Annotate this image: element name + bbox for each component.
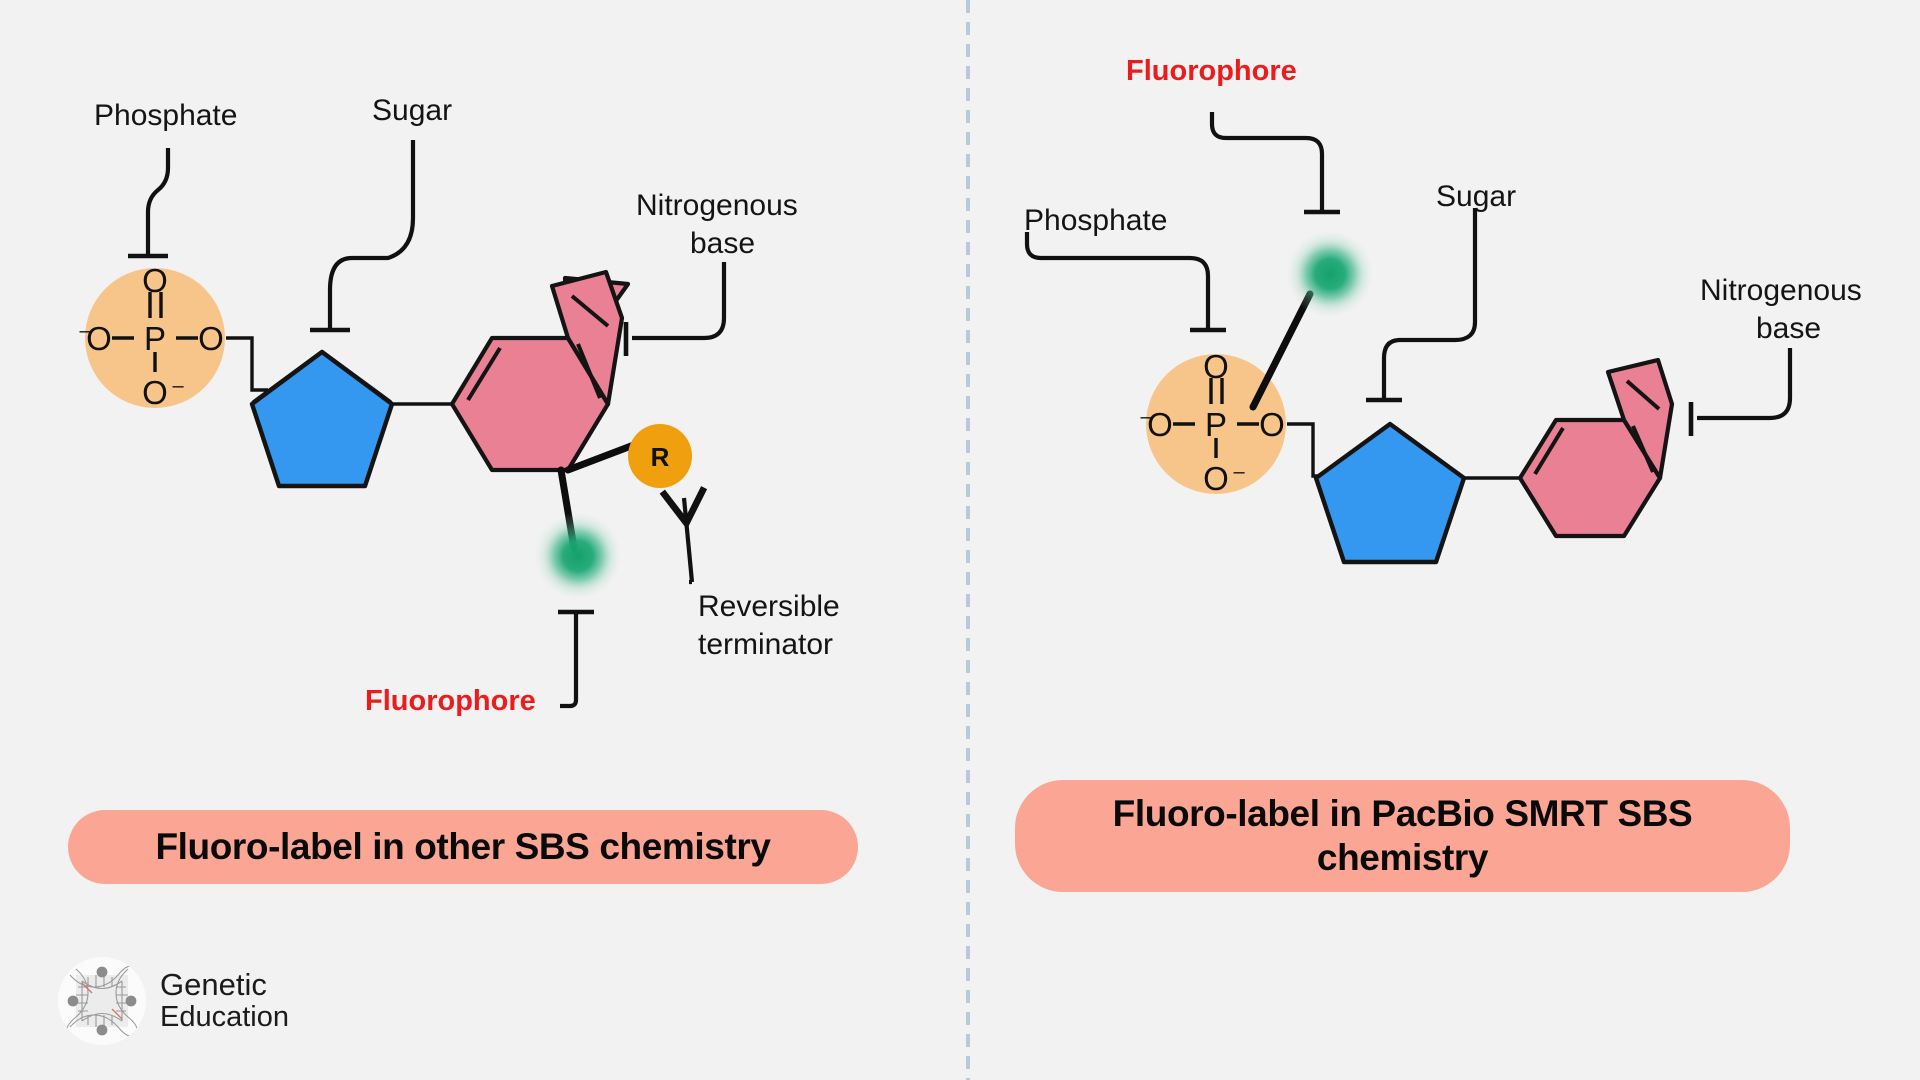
right-phosphate-leader	[1027, 232, 1226, 330]
left-banner-text: Fluoro-label in other SBS chemistry	[137, 825, 788, 869]
right-phosphate-left-oxygen: O	[1147, 406, 1173, 443]
logo-wordmark: Genetic Education	[160, 968, 289, 1034]
right-panel-banner: Fluoro-label in PacBio SMRT SBS chemistr…	[1015, 780, 1790, 892]
right-fluorophore-leader	[1212, 112, 1340, 212]
left-label-fluorophore: Fluorophore	[365, 685, 536, 717]
right-base-leader	[1691, 348, 1790, 436]
right-banner-text: Fluoro-label in PacBio SMRT SBS chemistr…	[1095, 792, 1711, 879]
left-label-terminator-line2: terminator	[698, 628, 833, 661]
left-phosphate-leader	[128, 148, 168, 256]
right-label-fluorophore: Fluorophore	[1126, 55, 1297, 87]
genetic-education-logo: Genetic Education	[58, 955, 338, 1047]
left-label-phosphate: Phosphate	[94, 99, 237, 132]
left-phosphate-center-atom: P	[144, 320, 166, 357]
left-phosphate-bottom-oxygen: O	[142, 374, 168, 411]
left-nitrogenous-base	[452, 272, 628, 470]
left-sugar-pentagon-main	[252, 352, 392, 486]
left-phosphate-left-oxygen: O	[86, 320, 112, 357]
left-phosphate-top-oxygen: O	[142, 262, 168, 299]
left-sugar-leader	[310, 140, 413, 330]
left-nucleotide-structure: O – O P O O –	[79, 94, 839, 717]
right-label-phosphate: Phosphate	[1024, 204, 1167, 237]
left-label-terminator-line1: Reversible	[698, 590, 840, 623]
right-phosphate-top-oxygen: O	[1203, 348, 1229, 385]
right-banner-line1: Fluoro-label in PacBio SMRT SBS	[1113, 793, 1693, 834]
left-base-leader	[626, 262, 724, 356]
right-nucleotide-structure: O – O P O O – Fl	[1024, 55, 1862, 562]
right-label-base-line1: Nitrogenous	[1700, 274, 1862, 307]
right-sugar-pentagon	[1316, 424, 1464, 562]
left-panel-banner: Fluoro-label in other SBS chemistry	[68, 810, 858, 884]
nucleotide-comparison-diagram: O – O P O O –	[0, 0, 1920, 1080]
right-phosphate-right-oxygen: O	[1259, 406, 1285, 443]
left-fluorophore-glow	[534, 512, 622, 600]
right-fluorophore-glow	[1286, 230, 1374, 318]
right-phosphate-center-atom: P	[1205, 406, 1227, 443]
logo-line2: Education	[160, 1002, 289, 1034]
left-phosphate-sugar-bond	[226, 338, 268, 390]
right-nitrogenous-base	[1520, 360, 1672, 536]
left-label-base-line1: Nitrogenous	[636, 189, 798, 222]
right-label-sugar: Sugar	[1436, 180, 1516, 213]
right-phosphate-bottom-oxygen-charge: –	[1233, 461, 1245, 483]
left-phosphate-bottom-oxygen-charge: –	[172, 375, 184, 397]
left-terminator-symbol: R	[651, 442, 670, 472]
figure-canvas: O – O P O O –	[0, 0, 1920, 1080]
dna-helix-icon	[58, 957, 146, 1045]
logo-line1: Genetic	[160, 968, 289, 1002]
right-phosphate-sugar-bond	[1287, 424, 1329, 476]
right-phosphate-bottom-oxygen: O	[1203, 460, 1229, 497]
left-fluorophore-leader	[558, 612, 594, 706]
right-label-base-line2: base	[1756, 312, 1821, 345]
left-label-sugar: Sugar	[372, 94, 452, 127]
left-label-base-line2: base	[690, 227, 755, 260]
left-terminator-leader	[684, 498, 694, 583]
right-banner-line2: chemistry	[1317, 837, 1488, 878]
dna-helix-emblem-icon	[58, 957, 146, 1045]
right-phosphate-fluorophore-bond	[1253, 294, 1310, 407]
left-phosphate-right-oxygen: O	[198, 320, 224, 357]
right-sugar-leader	[1366, 208, 1475, 400]
